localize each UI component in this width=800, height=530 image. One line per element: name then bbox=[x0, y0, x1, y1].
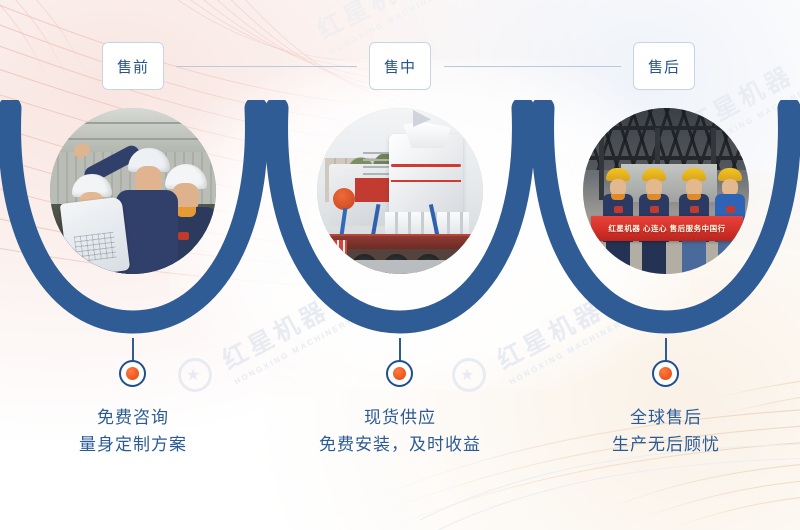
connector-stem bbox=[132, 338, 134, 362]
milestone-dot-core bbox=[393, 367, 406, 380]
caption-in-sale: 现货供应 免费安装，及时收益 bbox=[265, 405, 535, 459]
caption-line-1: 免费咨询 bbox=[0, 405, 268, 432]
caption-line-2: 免费安装，及时收益 bbox=[265, 432, 535, 459]
milestone-dot bbox=[386, 360, 413, 387]
arc-decoration bbox=[265, 100, 535, 350]
service-column-in-sale: 现货供应 免费安装，及时收益 bbox=[265, 0, 535, 530]
service-column-pre-sale: 免费咨询 量身定制方案 bbox=[0, 0, 268, 530]
milestone-dot-core bbox=[659, 367, 672, 380]
connector-stem bbox=[665, 338, 667, 362]
caption-pre-sale: 免费咨询 量身定制方案 bbox=[0, 405, 268, 459]
milestone-dot bbox=[652, 360, 679, 387]
caption-line-2: 生产无后顾忧 bbox=[531, 432, 800, 459]
service-column-after-sale: 红星机器 心连心 售后服务中国行 全球售后 生产无后顾忧 bbox=[531, 0, 800, 530]
caption-line-1: 现货供应 bbox=[265, 405, 535, 432]
arc-decoration bbox=[0, 100, 268, 350]
connector-stem bbox=[399, 338, 401, 362]
caption-after-sale: 全球售后 生产无后顾忧 bbox=[531, 405, 800, 459]
milestone-dot bbox=[119, 360, 146, 387]
milestone-dot-core bbox=[126, 367, 139, 380]
infographic-root: 红星机器 HONGXING MACHINERY 红星机器 HONGXING MA… bbox=[0, 0, 800, 530]
arc-decoration bbox=[531, 100, 800, 350]
caption-line-1: 全球售后 bbox=[531, 405, 800, 432]
caption-line-2: 量身定制方案 bbox=[0, 432, 268, 459]
